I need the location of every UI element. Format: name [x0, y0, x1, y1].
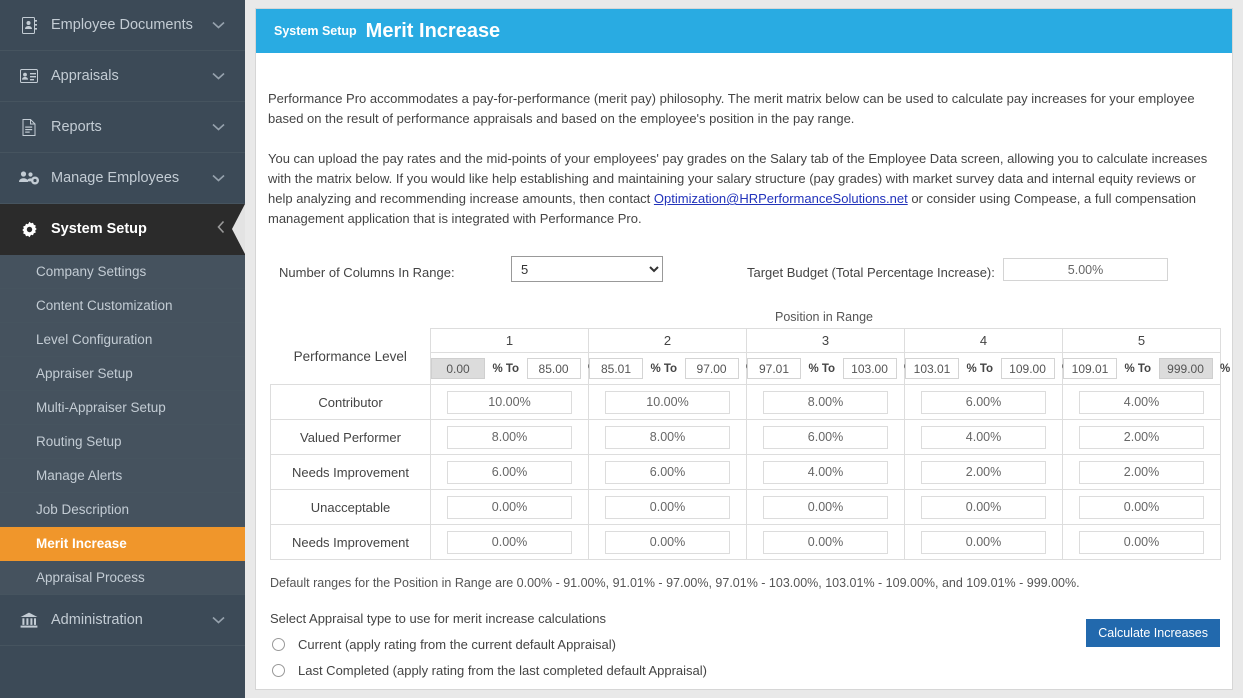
sidebar-subitem-appraiser-setup[interactable]: Appraiser Setup — [0, 357, 245, 391]
merit-value-input[interactable] — [921, 391, 1046, 414]
merit-cell — [905, 385, 1063, 420]
merit-value-input[interactable] — [1079, 461, 1204, 484]
range-to-label: % To — [1124, 363, 1151, 375]
range-to-input[interactable] — [1001, 358, 1055, 379]
table-row: Valued Performer — [271, 420, 1221, 455]
sidebar-item-label: Employee Documents — [51, 17, 193, 33]
merit-value-input[interactable] — [605, 531, 730, 554]
default-ranges-note: Default ranges for the Position in Range… — [268, 576, 1220, 590]
merit-matrix-table: Performance Level 1 2 3 4 5 % To — [270, 328, 1221, 560]
gear-icon — [18, 220, 40, 238]
sidebar-subitem-multi-appraiser-setup[interactable]: Multi-Appraiser Setup — [0, 391, 245, 425]
merit-value-input[interactable] — [763, 531, 888, 554]
matrix-column-number-row: Performance Level 1 2 3 4 5 — [271, 329, 1221, 353]
sidebar-subitem-job-description[interactable]: Job Description — [0, 493, 245, 527]
matrix-column-number: 2 — [589, 329, 747, 353]
merit-cell — [589, 385, 747, 420]
merit-cell — [431, 490, 589, 525]
merit-value-input[interactable] — [1079, 426, 1204, 449]
merit-value-input[interactable] — [1079, 531, 1204, 554]
merit-value-input[interactable] — [1079, 391, 1204, 414]
range-to-label: % To — [650, 363, 677, 375]
merit-value-input[interactable] — [763, 496, 888, 519]
main-panel: System Setup Merit Increase Performance … — [255, 8, 1233, 690]
merit-cell — [431, 455, 589, 490]
range-to-input[interactable] — [843, 358, 897, 379]
merit-cell — [431, 525, 589, 560]
merit-cell — [905, 490, 1063, 525]
range-from-input[interactable] — [589, 358, 643, 379]
merit-value-input[interactable] — [447, 426, 572, 449]
sidebar-subitem-label: Level Configuration — [36, 332, 152, 347]
merit-cell — [589, 455, 747, 490]
intro-paragraph-1: Performance Pro accommodates a pay-for-p… — [268, 53, 1220, 129]
sidebar-subitem-label: Appraisal Process — [36, 570, 145, 585]
performance-level-name: Needs Improvement — [271, 525, 431, 560]
merit-value-input[interactable] — [605, 496, 730, 519]
merit-cell — [747, 420, 905, 455]
app-root: Employee Documents Appraisals Reports — [0, 0, 1243, 698]
merit-value-input[interactable] — [763, 426, 888, 449]
sidebar-item-system-setup[interactable]: System Setup — [0, 204, 245, 255]
breadcrumb[interactable]: System Setup — [274, 24, 357, 38]
table-row: Needs Improvement — [271, 455, 1221, 490]
merit-cell — [747, 385, 905, 420]
merit-value-input[interactable] — [605, 461, 730, 484]
page-title: Merit Increase — [366, 20, 501, 43]
range-from-input[interactable] — [1063, 358, 1117, 379]
merit-cell — [431, 420, 589, 455]
performance-level-name: Unacceptable — [271, 490, 431, 525]
id-badge-icon — [18, 67, 40, 85]
matrix-column-number: 3 — [747, 329, 905, 353]
sidebar-subitem-merit-increase[interactable]: Merit Increase — [0, 527, 245, 561]
page-header: System Setup Merit Increase — [256, 9, 1232, 53]
percent-symbol: % — [1220, 363, 1230, 375]
merit-matrix-wrapper: Position in Range Performance Level 1 2 … — [268, 310, 1220, 560]
range-to-input[interactable] — [527, 358, 581, 379]
calculate-increases-button[interactable]: Calculate Increases — [1086, 619, 1220, 647]
merit-value-input[interactable] — [921, 531, 1046, 554]
page-body: Performance Pro accommodates a pay-for-p… — [256, 53, 1232, 678]
position-in-range-label: Position in Range — [430, 310, 1218, 324]
merit-value-input[interactable] — [921, 461, 1046, 484]
merit-cell — [431, 385, 589, 420]
range-cell: % To % — [747, 353, 905, 385]
table-row: Needs Improvement — [271, 525, 1221, 560]
matrix-column-number: 4 — [905, 329, 1063, 353]
merit-cell — [905, 420, 1063, 455]
sidebar-subitem-label: Manage Alerts — [36, 468, 122, 483]
columns-in-range-select[interactable]: 12345 — [511, 256, 663, 282]
range-from-input[interactable] — [905, 358, 959, 379]
merit-value-input[interactable] — [605, 391, 730, 414]
range-to-input[interactable] — [1159, 358, 1213, 379]
performance-level-name: Contributor — [271, 385, 431, 420]
radio-label: Last Completed (apply rating from the la… — [298, 663, 707, 678]
columns-in-range-label: Number of Columns In Range: — [279, 265, 455, 280]
sidebar-subitem-level-configuration[interactable]: Level Configuration — [0, 323, 245, 357]
sidebar-item-label: Manage Employees — [51, 170, 179, 186]
merit-value-input[interactable] — [921, 496, 1046, 519]
range-to-input[interactable] — [685, 358, 739, 379]
sidebar-submenu-system-setup: Company Settings Content Customization L… — [0, 255, 245, 595]
merit-cell — [1063, 385, 1221, 420]
sidebar-item-reports[interactable]: Reports — [0, 102, 245, 153]
sidebar-item-manage-employees[interactable]: Manage Employees — [0, 153, 245, 204]
sidebar-subitem-label: Routing Setup — [36, 434, 122, 449]
sidebar-subitem-label: Company Settings — [36, 264, 146, 279]
merit-value-input[interactable] — [447, 391, 572, 414]
chevron-down-icon[interactable] — [212, 68, 225, 84]
merit-cell — [905, 525, 1063, 560]
sidebar-item-appraisals[interactable]: Appraisals — [0, 51, 245, 102]
sidebar-subitem-routing-setup[interactable]: Routing Setup — [0, 425, 245, 459]
range-cell: % To % — [1063, 353, 1221, 385]
sidebar-subitem-appraisal-process[interactable]: Appraisal Process — [0, 561, 245, 595]
merit-value-input[interactable] — [447, 531, 572, 554]
intro-paragraph-2: You can upload the pay rates and the mid… — [268, 129, 1220, 229]
sidebar-bottom-group: Administration — [0, 595, 245, 676]
sidebar-item-employee-documents[interactable]: Employee Documents — [0, 0, 245, 51]
merit-value-input[interactable] — [605, 426, 730, 449]
sidebar-subitem-label: Merit Increase — [36, 536, 127, 551]
sidebar-top-group: Employee Documents Appraisals Reports — [0, 0, 245, 255]
controls-row: Number of Columns In Range: 12345 Target… — [268, 256, 1220, 290]
contact-card-icon — [18, 16, 40, 34]
matrix-column-number: 1 — [431, 329, 589, 353]
sidebar-subitem-label: Content Customization — [36, 298, 173, 313]
matrix-column-number: 5 — [1063, 329, 1221, 353]
sidebar-item-label: System Setup — [51, 221, 147, 237]
merit-value-input[interactable] — [763, 391, 888, 414]
range-from-input[interactable] — [431, 358, 485, 379]
target-budget-label: Target Budget (Total Percentage Increase… — [747, 265, 995, 280]
merit-value-input[interactable] — [447, 496, 572, 519]
sidebar-item-label: Appraisals — [51, 68, 119, 84]
performance-level-header: Performance Level — [271, 329, 431, 385]
bank-icon — [18, 611, 40, 629]
radio-icon[interactable] — [272, 664, 285, 677]
radio-label: Current (apply rating from the current d… — [298, 637, 616, 652]
chevron-left-icon[interactable] — [217, 221, 225, 238]
appraisal-type-intro: Select Appraisal type to use for merit i… — [268, 611, 1220, 626]
merit-cell — [747, 455, 905, 490]
sidebar-item-label: Administration — [51, 612, 143, 628]
range-to-label: % To — [966, 363, 993, 375]
optimization-email-link[interactable]: Optimization@HRPerformanceSolutions.net — [654, 191, 908, 206]
chevron-down-icon[interactable] — [212, 170, 225, 186]
chevron-down-icon[interactable] — [212, 17, 225, 33]
radio-option-current[interactable]: Current (apply rating from the current d… — [268, 637, 1220, 652]
radio-option-last-completed[interactable]: Last Completed (apply rating from the la… — [268, 663, 1220, 678]
sidebar-subitem-content-customization[interactable]: Content Customization — [0, 289, 245, 323]
sidebar-subitem-label: Appraiser Setup — [36, 366, 133, 381]
merit-value-input[interactable] — [447, 461, 572, 484]
document-icon — [18, 118, 40, 136]
merit-cell — [589, 420, 747, 455]
sidebar-subitem-company-settings[interactable]: Company Settings — [0, 255, 245, 289]
radio-icon[interactable] — [272, 638, 285, 651]
performance-level-name: Valued Performer — [271, 420, 431, 455]
merit-cell — [1063, 525, 1221, 560]
merit-cell — [1063, 455, 1221, 490]
sidebar-filler — [0, 646, 245, 676]
range-cell: % To % — [589, 353, 747, 385]
range-to-label: % To — [808, 363, 835, 375]
merit-cell — [589, 525, 747, 560]
sidebar-subitem-label: Multi-Appraiser Setup — [36, 400, 166, 415]
chevron-down-icon[interactable] — [212, 119, 225, 135]
merit-cell — [905, 455, 1063, 490]
sidebar: Employee Documents Appraisals Reports — [0, 0, 245, 698]
merit-value-input[interactable] — [1079, 496, 1204, 519]
merit-cell — [589, 490, 747, 525]
merit-value-input[interactable] — [921, 426, 1046, 449]
sidebar-item-label: Reports — [51, 119, 102, 135]
sidebar-subitem-label: Job Description — [36, 502, 129, 517]
range-from-input[interactable] — [747, 358, 801, 379]
table-row: Contributor — [271, 385, 1221, 420]
range-cell: % To % — [905, 353, 1063, 385]
merit-cell — [747, 490, 905, 525]
sidebar-item-administration[interactable]: Administration — [0, 595, 245, 646]
merit-value-input[interactable] — [763, 461, 888, 484]
chevron-down-icon[interactable] — [212, 612, 225, 628]
table-row: Unacceptable — [271, 490, 1221, 525]
sidebar-subitem-manage-alerts[interactable]: Manage Alerts — [0, 459, 245, 493]
active-item-pointer — [232, 204, 245, 254]
merit-cell — [1063, 490, 1221, 525]
users-gear-icon — [18, 169, 40, 187]
performance-level-name: Needs Improvement — [271, 455, 431, 490]
range-to-label: % To — [492, 363, 519, 375]
merit-cell — [1063, 420, 1221, 455]
target-budget-input[interactable] — [1003, 258, 1168, 281]
merit-cell — [747, 525, 905, 560]
range-cell: % To % — [431, 353, 589, 385]
